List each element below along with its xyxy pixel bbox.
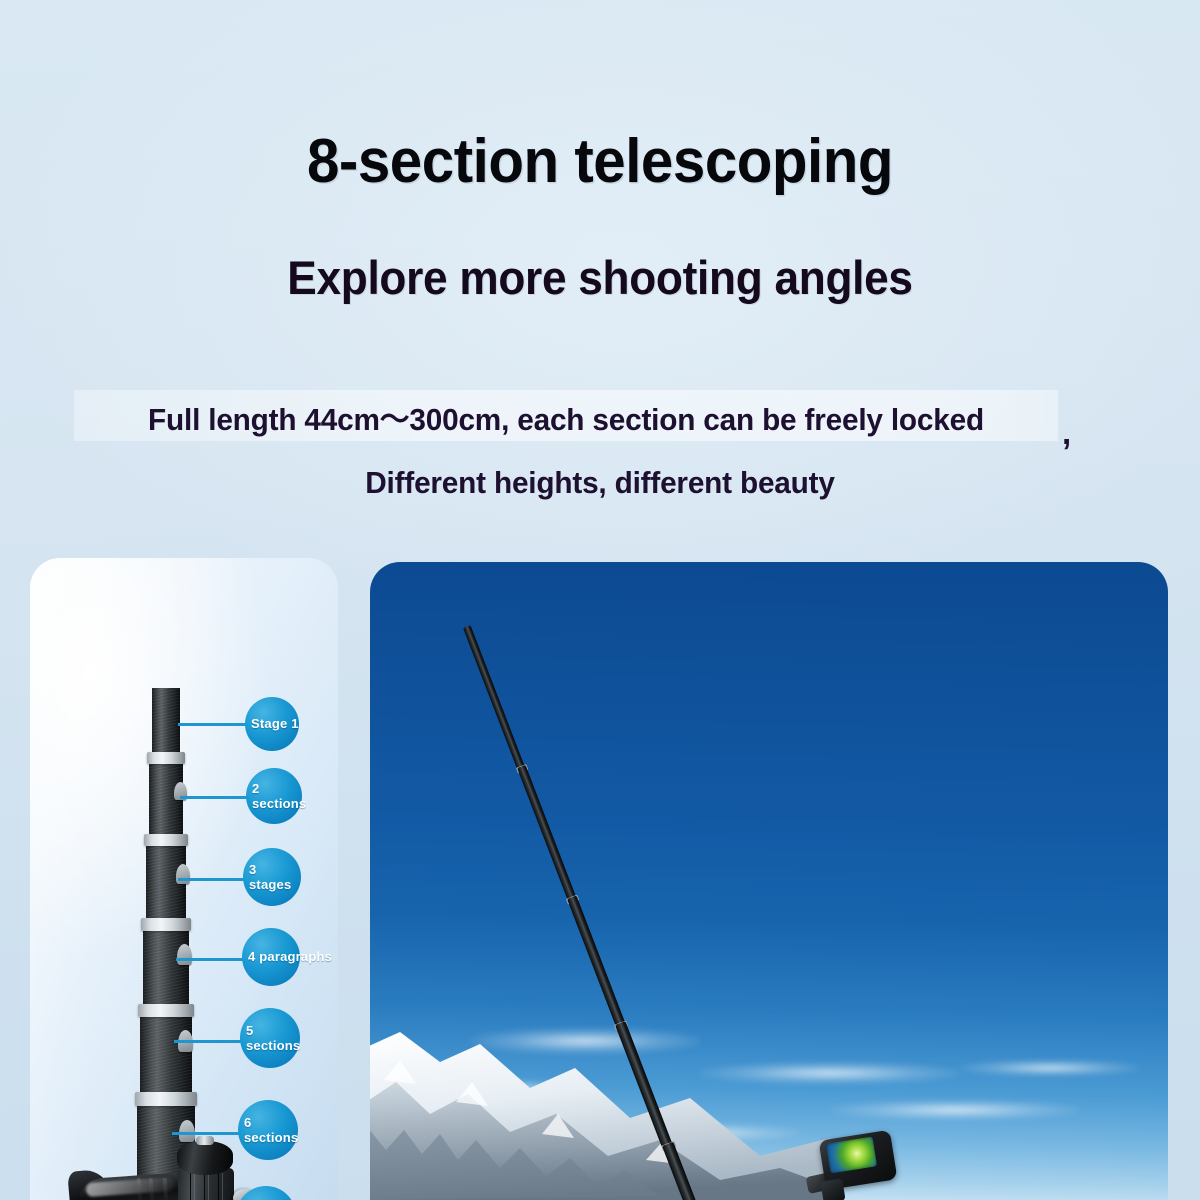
segment-lock-button: [177, 944, 192, 965]
page-title: 8-section telescoping: [36, 126, 1164, 197]
trailing-comma: ,: [1062, 414, 1071, 452]
page-subtitle: Explore more shooting angles: [36, 250, 1164, 305]
callout-badge-label: 6sections: [238, 1115, 298, 1146]
photo-pole-segment: [517, 765, 577, 902]
callout-badge-6: 6sections: [238, 1100, 298, 1160]
callout-leader-line: [174, 1040, 244, 1043]
mountain-range: [370, 1010, 830, 1200]
mount-top-screw: [196, 1136, 214, 1145]
spec-line-length: Full length 44cm～300cm, each section can…: [94, 394, 1039, 439]
callout-badge-5: 5sections: [240, 1008, 300, 1068]
product-diagram-card: Stage 12sections3stages4 paragraphs5sect…: [30, 558, 338, 1200]
callout-leader-line: [180, 796, 250, 799]
pole-segment: [143, 924, 189, 1006]
callout-leader-line: [178, 878, 248, 881]
callout-leader-line: [176, 958, 246, 961]
callout-leader-line: [178, 723, 250, 726]
segment-lock-button: [176, 864, 190, 884]
callout-badge-1: Stage 1: [245, 697, 299, 751]
lifestyle-photo-panel: [370, 562, 1168, 1200]
fork-slot: [190, 1173, 195, 1200]
fork-slot: [218, 1173, 223, 1200]
spec-line-tagline: Different heights, different beauty: [24, 465, 1176, 501]
range-tilde: ～: [380, 402, 410, 438]
pole-collar-ring: [141, 918, 191, 931]
segment-lock-button: [179, 1120, 195, 1142]
callout-badge-label: Stage 1: [245, 716, 299, 731]
spec-text-a: Full length 44cm: [148, 402, 380, 437]
promo-graphic: 8-section telescoping Explore more shoot…: [0, 0, 1200, 1200]
callout-badge-2: 2sections: [246, 768, 302, 824]
spec-text-b: 300cm, each section can be freely locked: [409, 402, 984, 437]
photo-pole-segment: [567, 895, 626, 1028]
pole-collar-ring: [135, 1092, 197, 1106]
cloud-wisp: [960, 1060, 1140, 1076]
pole-collar-ring: [138, 1004, 194, 1017]
callout-badge-label: 2sections: [246, 781, 306, 812]
fork-slot: [204, 1173, 209, 1200]
camera-clip: [820, 1178, 845, 1200]
pole-segment: [140, 1010, 192, 1094]
callout-badge-label: 4 paragraphs: [242, 949, 332, 964]
pole-collar-ring: [144, 834, 188, 846]
pole-segment: [152, 688, 180, 754]
callout-badge-4: 4 paragraphs: [242, 928, 300, 986]
mount-top-cap: [177, 1141, 233, 1175]
callout-badge-3: 3stages: [243, 848, 301, 906]
photo-pole-segment: [463, 625, 525, 771]
pole-collar-ring: [147, 752, 185, 764]
callout-leader-line: [172, 1132, 242, 1135]
callout-badge-label: 5sections: [240, 1023, 300, 1054]
cloud-wisp: [830, 1100, 1080, 1120]
callout-badge-label: 3stages: [243, 862, 291, 893]
